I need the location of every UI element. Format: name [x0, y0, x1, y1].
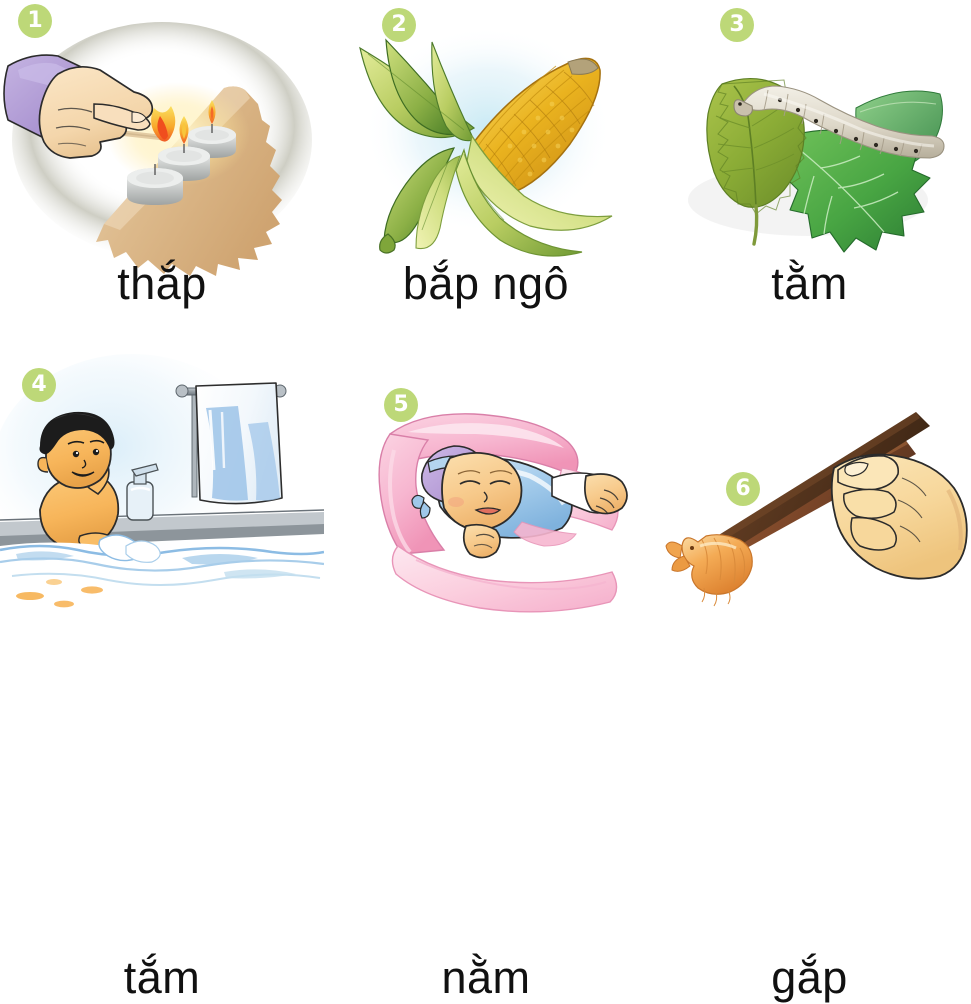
card-3-badge: 3 [720, 8, 754, 42]
card-3[interactable]: 3 tằm [648, 0, 971, 332]
card-3-caption: tằm [648, 258, 971, 310]
card-4-badge: 4 [22, 368, 56, 402]
card-5-caption: nằm [324, 952, 648, 1004]
card-5-badge: 5 [384, 388, 418, 422]
card-2-badge: 2 [382, 8, 416, 42]
card-6[interactable]: 6 gắp [648, 350, 971, 664]
illustration-gap-chopsticks [648, 350, 971, 664]
card-5[interactable]: 5 nằm [324, 350, 648, 664]
card-1-caption: thắp [0, 258, 324, 310]
card-6-badge: 6 [726, 472, 760, 506]
hanging-towel [196, 383, 282, 504]
card-4-caption: tắm [0, 952, 324, 1004]
card-4[interactable]: 4 tắm [0, 350, 324, 664]
bath-water [0, 535, 324, 664]
worksheet-page: 1 thắp [0, 0, 971, 664]
illustration-nam-sleeping-baby [324, 350, 648, 664]
card-6-caption: gắp [648, 952, 971, 1004]
card-2-caption: bắp ngô [324, 258, 648, 310]
card-1-badge: 1 [18, 4, 52, 38]
card-2[interactable]: 2 bắp ngô [324, 0, 648, 332]
card-1[interactable]: 1 thắp [0, 0, 324, 332]
